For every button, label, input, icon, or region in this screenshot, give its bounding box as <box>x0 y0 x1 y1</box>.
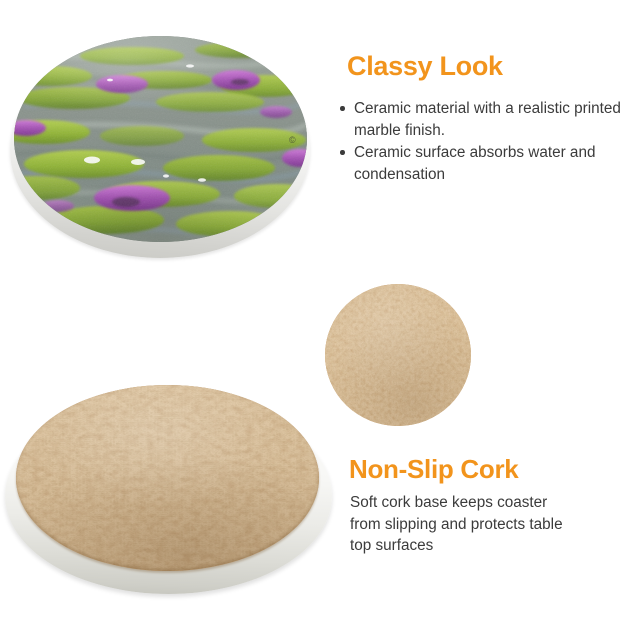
cork-base-shading <box>16 385 319 571</box>
bullet-item: Ceramic material with a realistic printe… <box>340 98 630 141</box>
bullet-item: Ceramic surface absorbs water and conden… <box>340 142 630 185</box>
bullet-text: Ceramic material with a realistic printe… <box>354 100 621 139</box>
feature-description-non-slip-cork: Soft cork base keeps coaster from slippi… <box>350 492 638 557</box>
feature-heading-classy-look: Classy Look <box>347 53 503 80</box>
description-line: top surfaces <box>350 535 638 557</box>
cork-texture-swatch <box>325 284 471 426</box>
description-line: Soft cork base keeps coaster <box>350 492 638 514</box>
bullet-dot-icon <box>340 106 345 111</box>
bullet-dot-icon <box>340 150 345 155</box>
cork-base-surface <box>16 385 319 571</box>
feature-heading-non-slip-cork: Non-Slip Cork <box>349 456 518 482</box>
ceramic-coaster-lily-print: © <box>8 28 312 260</box>
watermark-icon: © <box>289 136 296 145</box>
product-infographic: © Classy Look Ceramic material with a re… <box>0 0 640 637</box>
coaster-cork-base <box>2 380 334 600</box>
description-line: from slipping and protects table <box>350 514 638 536</box>
printed-ceramic-surface <box>14 36 307 242</box>
bullet-text: Ceramic surface absorbs water and conden… <box>354 144 595 183</box>
feature-bullets-classy-look: Ceramic material with a realistic printe… <box>340 98 630 186</box>
cork-swatch-shading <box>325 284 471 426</box>
